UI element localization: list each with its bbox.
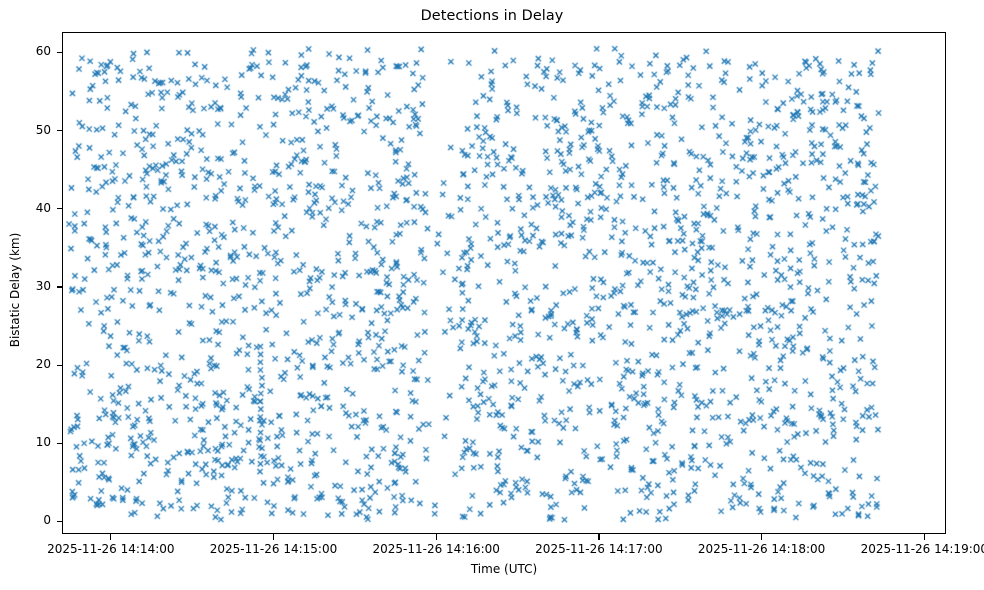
x-tick-mark [273,534,274,540]
x-tick-label: 2025-11-26 14:17:00 [514,542,684,556]
y-tick-mark [57,52,63,53]
x-tick-label: 2025-11-26 14:16:00 [351,542,521,556]
plot-area [62,32,946,534]
y-tick-mark [57,365,63,366]
y-tick-label: 40 [0,201,51,215]
y-tick-label: 0 [0,513,51,527]
chart-title: Detections in Delay [0,8,984,24]
y-tick-label: 50 [0,123,51,137]
x-tick-mark [924,534,925,540]
y-tick-mark [57,443,63,444]
y-tick-label: 10 [0,435,51,449]
y-tick-mark [57,208,63,209]
y-tick-mark [57,286,63,287]
y-tick-label: 30 [0,279,51,293]
x-tick-label: 2025-11-26 14:14:00 [26,542,196,556]
y-tick-label: 20 [0,357,51,371]
x-tick-label: 2025-11-26 14:15:00 [189,542,359,556]
x-tick-label: 2025-11-26 14:19:00 [839,542,984,556]
x-tick-mark [436,534,437,540]
scatter-plot-figure: Detections in Delay Bistatic Delay (km) … [0,0,984,590]
scatter-points-canvas [63,33,946,534]
x-tick-mark [110,534,111,540]
x-tick-label: 2025-11-26 14:18:00 [677,542,847,556]
x-tick-mark [761,534,762,540]
y-tick-mark [57,130,63,131]
x-axis-label: Time (UTC) [62,562,946,576]
y-tick-label: 60 [0,44,51,58]
y-tick-mark [57,521,63,522]
x-tick-mark [598,534,599,540]
